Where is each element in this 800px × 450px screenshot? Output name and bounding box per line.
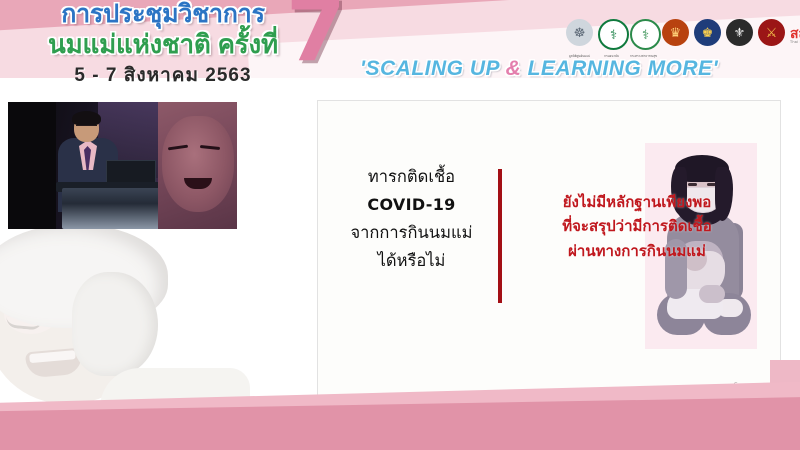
answer-line-3: ผ่านทางการกินนมแม่ [508,240,766,264]
logo-item: ☸ มูลนิธิศูนย์นมแม่ [566,19,593,52]
thaihealth-sso-logo-subtext: Thai Health [790,41,800,45]
logo-item: ⚜ [726,19,753,52]
slide-vertical-divider [498,169,502,303]
logo-item: ⚔ [758,19,785,52]
question-line-4: ได้หรือไม่ [334,247,489,275]
tagline-ampersand: & [506,57,522,80]
royal-seal-logo: ☸ [566,19,593,46]
stage-dark-panel [8,102,56,229]
mother-hand [699,285,725,303]
conference-edition-number: 7 [286,0,346,74]
logo-item: ♚ [694,19,721,52]
presentation-screenshot: การประชุมวิชาการ นมแม่แห่งชาติ ครั้งที่ … [0,0,800,450]
ministry-health-logo-caption: กรมอนามัย [598,54,625,59]
university-emblem-logo: ♛ [662,19,689,46]
question-line-3: จากการกินนมแม่ [334,219,489,247]
video-baby-face [162,116,234,212]
question-line-2: COVID-19 [334,191,489,219]
royal-college-logo: ♚ [694,19,721,46]
background-baby-photo [0,228,250,418]
video-baby-closeup [158,102,237,229]
slide-question-text: ทารกติดเชื้อ COVID-19 จากการกินนมแม่ ได้… [334,163,489,276]
speaker-glasses [76,125,97,131]
royal-seal-logo-caption: มูลนิธิศูนย์นมแม่ [566,54,593,59]
conference-date: 5 - 7 สิงหาคม 2563 [18,66,308,85]
conference-tagline: 'SCALING UP & LEARNING MORE' [360,57,718,81]
slide-content-panel: ทารกติดเชื้อ COVID-19 จากการกินนมแม่ ได้… [317,100,781,400]
tagline-part-2: LEARNING MORE' [521,57,718,80]
slide-answer-text: ยังไม่มีหลักฐานเพียงพอ ที่จะสรุปว่ามีการ… [508,191,766,264]
question-line-1: ทารกติดเชื้อ [334,163,489,191]
footer-ribbon-base [0,428,800,450]
conference-title-line-1: การประชุมวิชาการ [18,2,308,27]
nursing-council-logo: ⚜ [726,19,753,46]
logo-item: ⚕ กระทรวงสาธารณสุข [630,19,657,52]
ministry-health-logo: ⚕ [598,19,629,50]
conference-title-line-2: นมแม่แห่งชาติ ครั้งที่ [18,31,308,57]
answer-line-2: ที่จะสรุปว่ามีการติดเชื้อ [508,215,766,239]
medical-council-logo: ⚔ [758,19,785,46]
conference-title-block: การประชุมวิชาการ นมแม่แห่งชาติ ครั้งที่ … [18,2,308,85]
logo-item: ♛ [662,19,689,52]
tagline-part-1: 'SCALING UP [360,57,506,80]
speaker-video-thumbnail[interactable] [8,102,237,229]
speaker-hair [72,111,101,126]
sponsor-logo-row: ☸ มูลนิธิศูนย์นมแม่ ⚕ กรมอนามัย ⚕ กระทรว… [566,19,800,52]
health-department-logo: ⚕ [630,19,661,50]
thaihealth-sso-logo: สสส Thai Health [790,27,800,45]
answer-line-1: ยังไม่มีหลักฐานเพียงพอ [508,191,766,215]
podium [62,188,167,229]
mother-eye-left [688,183,697,186]
photo-white-overlay [0,228,250,418]
logo-item: ⚕ กรมอนามัย [598,19,625,52]
health-department-logo-caption: กระทรวงสาธารณสุข [630,54,657,59]
conference-header-banner: การประชุมวิชาการ นมแม่แห่งชาติ ครั้งที่ … [0,0,800,96]
